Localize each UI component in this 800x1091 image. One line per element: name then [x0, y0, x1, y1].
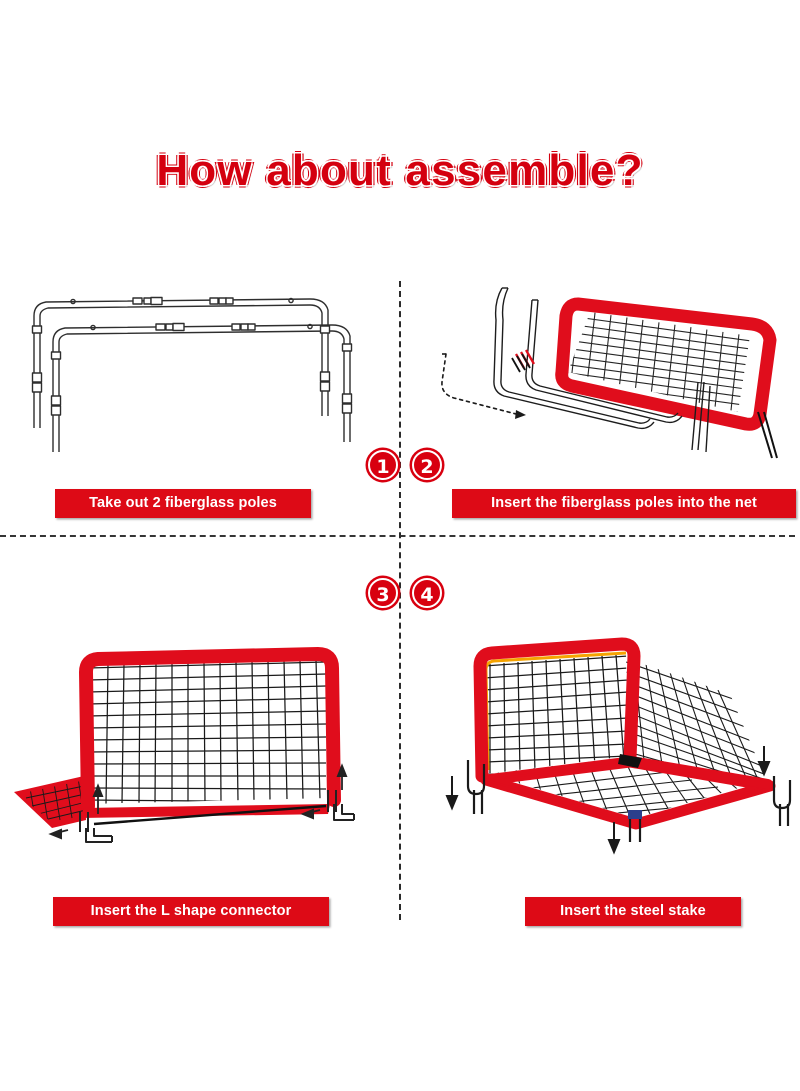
step-caption-2: Insert the fiberglass poles into the net	[452, 489, 796, 518]
step-badge-1: 1	[368, 450, 398, 480]
step-caption-4: Insert the steel stake	[525, 897, 741, 926]
step-1-illustration	[20, 268, 380, 468]
step-caption-1: Take out 2 fiberglass poles	[55, 489, 311, 518]
step-4-illustration	[430, 628, 798, 876]
horizontal-divider	[0, 535, 795, 537]
vertical-divider	[399, 281, 401, 920]
step-3-illustration	[8, 628, 390, 876]
step-badge-2: 2	[412, 450, 442, 480]
page-title: How about assemble?	[0, 146, 800, 196]
step-badge-4: 4	[412, 578, 442, 608]
step-badge-3: 3	[368, 578, 398, 608]
step-2-illustration	[420, 262, 798, 472]
step-caption-3: Insert the L shape connector	[53, 897, 329, 926]
